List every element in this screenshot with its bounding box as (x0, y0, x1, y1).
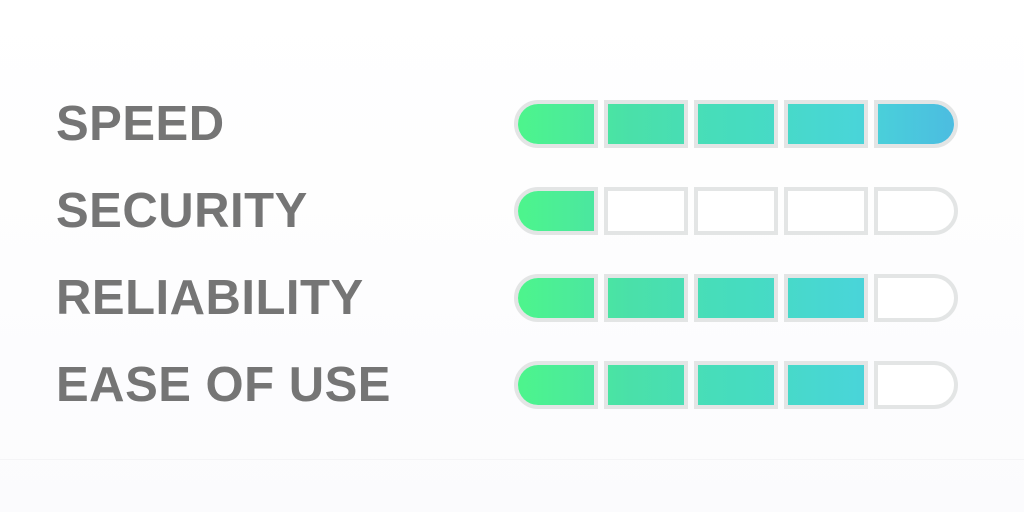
rating-segment[interactable] (874, 187, 958, 235)
segment-fill (698, 104, 774, 144)
rating-meter-reliability[interactable] (514, 274, 958, 322)
rating-segment[interactable] (604, 187, 688, 235)
rating-segment[interactable] (784, 274, 868, 322)
ratings-panel: SPEED SECURITY RELIABILITY EASE (0, 0, 1024, 512)
rating-segment[interactable] (694, 187, 778, 235)
segment-fill (608, 365, 684, 405)
rating-segment[interactable] (784, 361, 868, 409)
segment-fill (698, 278, 774, 318)
divider (0, 459, 1024, 460)
rating-meter-security[interactable] (514, 187, 958, 235)
segment-fill (518, 278, 594, 318)
rating-segment[interactable] (874, 274, 958, 322)
rating-meter-speed[interactable] (514, 100, 958, 148)
rating-segment[interactable] (694, 361, 778, 409)
rating-row: SPEED (0, 94, 1024, 154)
rating-segment[interactable] (694, 100, 778, 148)
rating-segment[interactable] (604, 100, 688, 148)
segment-fill (608, 104, 684, 144)
rating-row: RELIABILITY (0, 268, 1024, 328)
segment-fill (518, 104, 594, 144)
rating-label-security: SECURITY (56, 187, 308, 236)
rating-label-reliability: RELIABILITY (56, 274, 364, 323)
rating-segment[interactable] (784, 187, 868, 235)
rating-segment[interactable] (604, 274, 688, 322)
rating-segment[interactable] (514, 100, 598, 148)
segment-fill (608, 278, 684, 318)
rating-segment[interactable] (514, 361, 598, 409)
segment-fill (518, 191, 594, 231)
rating-segment[interactable] (784, 100, 868, 148)
rating-segment[interactable] (514, 274, 598, 322)
rating-meter-ease-of-use[interactable] (514, 361, 958, 409)
rating-row: SECURITY (0, 181, 1024, 241)
segment-fill (878, 104, 954, 144)
segment-fill (698, 365, 774, 405)
segment-fill (788, 278, 864, 318)
segment-fill (518, 365, 594, 405)
rating-segment[interactable] (694, 274, 778, 322)
rating-segment[interactable] (514, 187, 598, 235)
rating-label-ease-of-use: EASE OF USE (56, 361, 391, 410)
rating-label-speed: SPEED (56, 100, 225, 149)
rating-segment[interactable] (874, 100, 958, 148)
rating-segment[interactable] (874, 361, 958, 409)
segment-fill (788, 365, 864, 405)
segment-fill (788, 104, 864, 144)
rating-row: EASE OF USE (0, 355, 1024, 415)
rating-segment[interactable] (604, 361, 688, 409)
